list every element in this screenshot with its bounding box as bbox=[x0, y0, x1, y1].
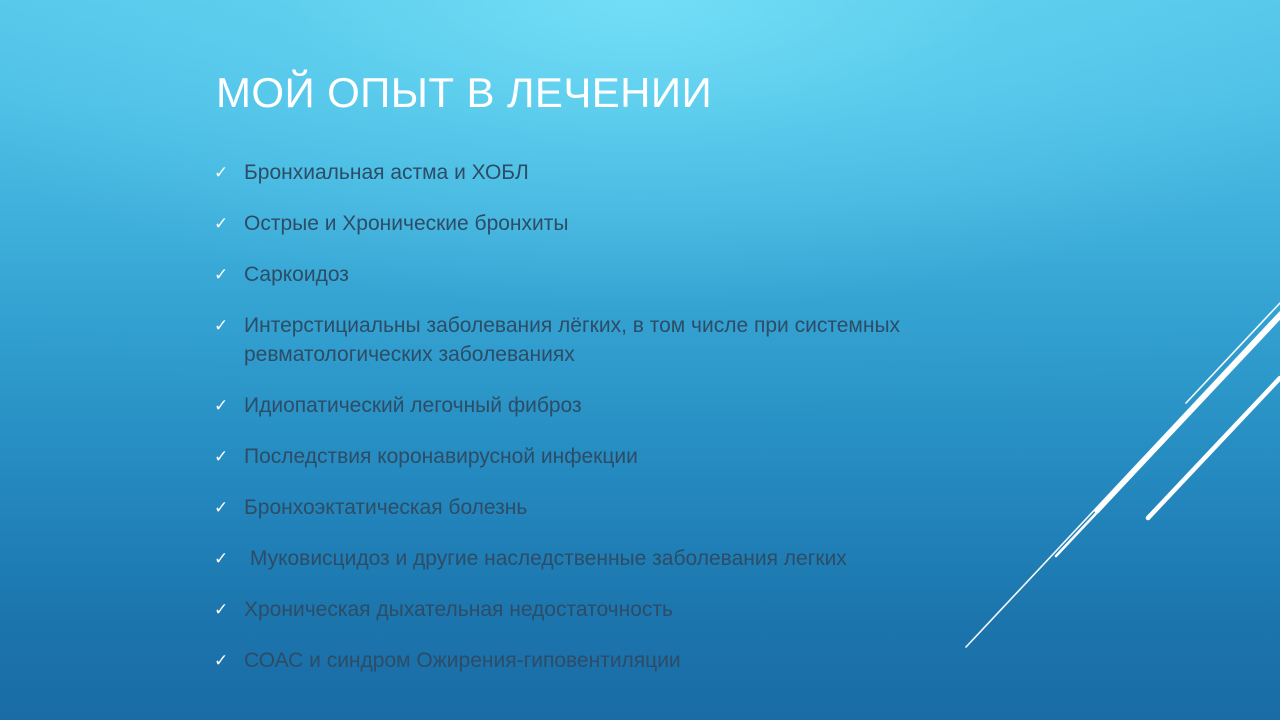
check-icon: ✓ bbox=[214, 544, 236, 573]
list-item-label: Острые и Хронические бронхиты bbox=[244, 209, 1090, 238]
list-item-label: СОАС и синдром Ожирения-гиповентиляции bbox=[244, 646, 1090, 675]
list-item-label: Идиопатический легочный фиброз bbox=[244, 391, 1090, 420]
list-item-label: Хроническая дыхательная недостаточность bbox=[244, 595, 1090, 624]
streak-line bbox=[1148, 378, 1280, 518]
list-item: ✓Бронхоэктатическая болезнь bbox=[210, 493, 1090, 522]
list-item: ✓Хроническая дыхательная недостаточность bbox=[210, 595, 1090, 624]
list-item-label: Бронхиальная астма и ХОБЛ bbox=[244, 158, 1090, 187]
slide-title: Мой опыт в лечении bbox=[216, 68, 1116, 118]
list-item: ✓СОАС и синдром Ожирения-гиповентиляции bbox=[210, 646, 1090, 675]
streak-line bbox=[1186, 303, 1280, 403]
check-icon: ✓ bbox=[214, 442, 236, 471]
check-icon: ✓ bbox=[214, 260, 236, 289]
list-item: ✓Интерстициальны заболевания лёгких, в т… bbox=[210, 311, 1090, 369]
check-icon: ✓ bbox=[214, 646, 236, 675]
list-item-label: Саркоидоз bbox=[244, 260, 1090, 289]
streak-line bbox=[1097, 315, 1280, 511]
list-item: ✓Идиопатический легочный фиброз bbox=[210, 391, 1090, 420]
check-icon: ✓ bbox=[214, 311, 236, 340]
list-item: ✓Острые и Хронические бронхиты bbox=[210, 209, 1090, 238]
check-icon: ✓ bbox=[214, 158, 236, 187]
slide-canvas: Мой опыт в лечении ✓Бронхиальная астма и… bbox=[0, 0, 1280, 720]
bullet-list: ✓Бронхиальная астма и ХОБЛ✓Острые и Хрон… bbox=[210, 158, 1090, 675]
list-item-label: Муковисцидоз и другие наследственные заб… bbox=[244, 544, 1090, 573]
list-item: ✓Последствия коронавирусной инфекции bbox=[210, 442, 1090, 471]
check-icon: ✓ bbox=[214, 391, 236, 420]
list-item: ✓ Муковисцидоз и другие наследственные з… bbox=[210, 544, 1090, 573]
list-item: ✓Саркоидоз bbox=[210, 260, 1090, 289]
check-icon: ✓ bbox=[214, 209, 236, 238]
check-icon: ✓ bbox=[214, 595, 236, 624]
check-icon: ✓ bbox=[214, 493, 236, 522]
list-item-label: Интерстициальны заболевания лёгких, в то… bbox=[244, 311, 1090, 369]
list-item-label: Последствия коронавирусной инфекции bbox=[244, 442, 1090, 471]
list-item: ✓Бронхиальная астма и ХОБЛ bbox=[210, 158, 1090, 187]
list-item-label: Бронхоэктатическая болезнь bbox=[244, 493, 1090, 522]
